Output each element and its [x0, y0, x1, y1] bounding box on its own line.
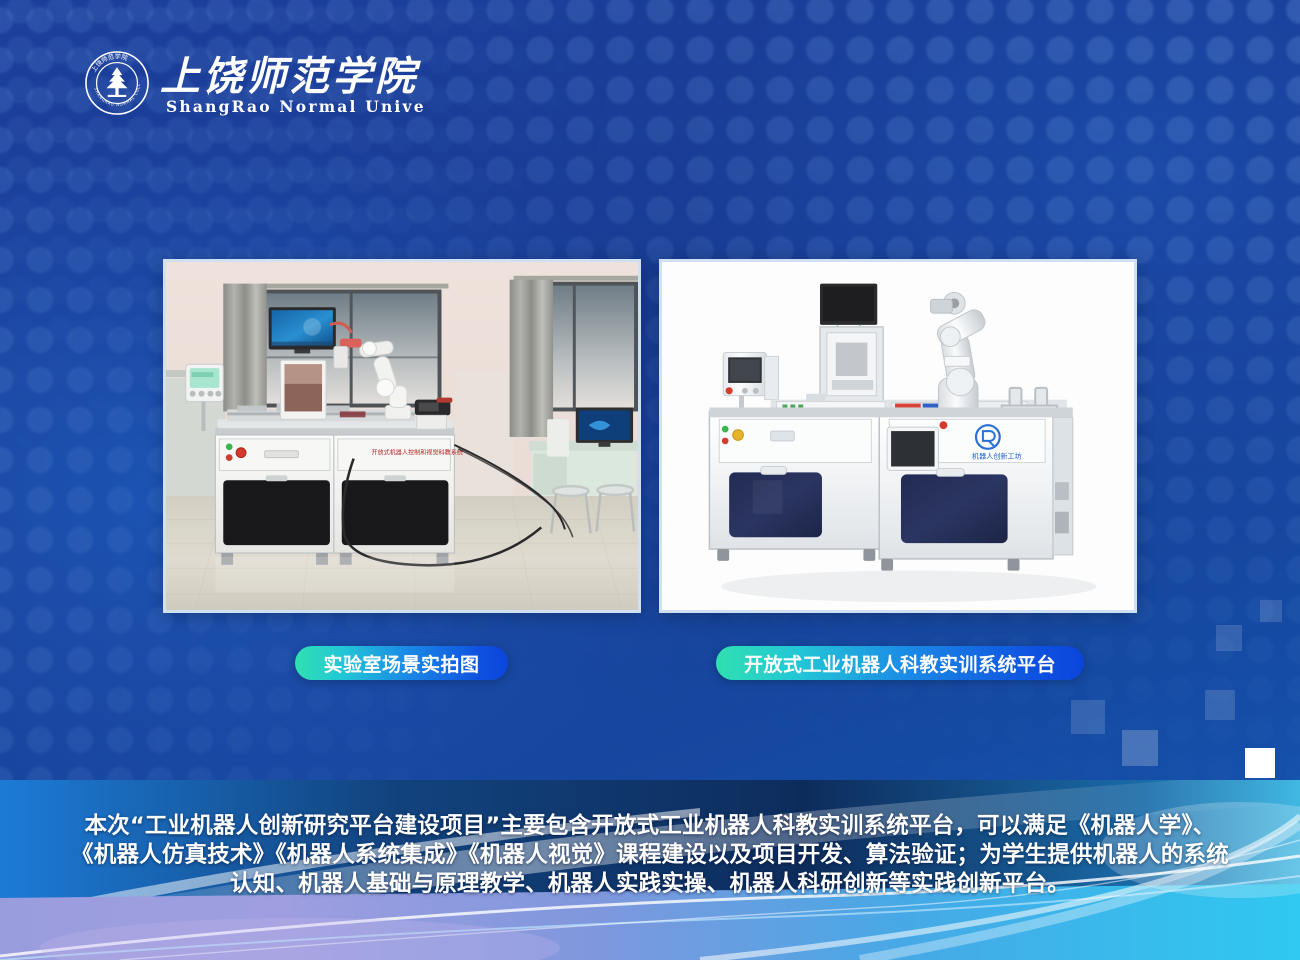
- decor-square: [1122, 730, 1158, 766]
- university-seal-icon: 上饶师范学院 SHANGRAO NORMAL COLLEGE: [84, 50, 150, 116]
- paragraph-line-2: 《机器人仿真技术》《机器人系统集成》《机器人视觉》课程建设以及项目开发、算法验证…: [60, 841, 1240, 870]
- decor-square: [1205, 690, 1235, 720]
- logo-chinese-name: 上饶师范学院: [160, 53, 421, 100]
- university-wordmark: 上饶师范学院 ShangRao Normal University: [160, 48, 426, 120]
- paragraph-line-1: 本次“工业机器人创新研究平台建设项目”主要包含开放式工业机器人科教实训系统平台，…: [60, 812, 1240, 841]
- decor-square: [1260, 600, 1282, 622]
- caption-pill-left[interactable]: 实验室场景实拍图: [295, 646, 508, 680]
- description-paragraph: 本次“工业机器人创新研究平台建设项目”主要包含开放式工业机器人科教实训系统平台，…: [60, 812, 1240, 899]
- logo-english-name: ShangRao Normal University: [166, 97, 426, 116]
- laboratory-scene-photo[interactable]: 开放式机器人控制和视觉科教系统: [163, 259, 641, 613]
- slide-canvas: 上饶师范学院 SHANGRAO NORMAL COLLEGE 上饶师范学院 Sh…: [0, 0, 1300, 960]
- caption-pill-right[interactable]: 开放式工业机器人科教实训系统平台: [716, 646, 1084, 680]
- svg-text:上饶师范学院: 上饶师范学院: [89, 52, 130, 74]
- decor-square: [1245, 748, 1275, 778]
- university-logo: 上饶师范学院 SHANGRAO NORMAL COLLEGE 上饶师范学院 Sh…: [84, 50, 424, 122]
- paragraph-line-3: 认知、机器人基础与原理教学、机器人实践实操、机器人科研创新等实践创新平台。: [60, 870, 1240, 899]
- decor-square: [1071, 700, 1105, 734]
- decor-square: [1216, 625, 1242, 651]
- equipment-brand: 机器人创新工坊: [972, 452, 1022, 461]
- training-platform-render[interactable]: 机器人创新工坊: [659, 259, 1137, 613]
- equipment-label: 开放式机器人控制和视觉科教系统: [371, 449, 463, 457]
